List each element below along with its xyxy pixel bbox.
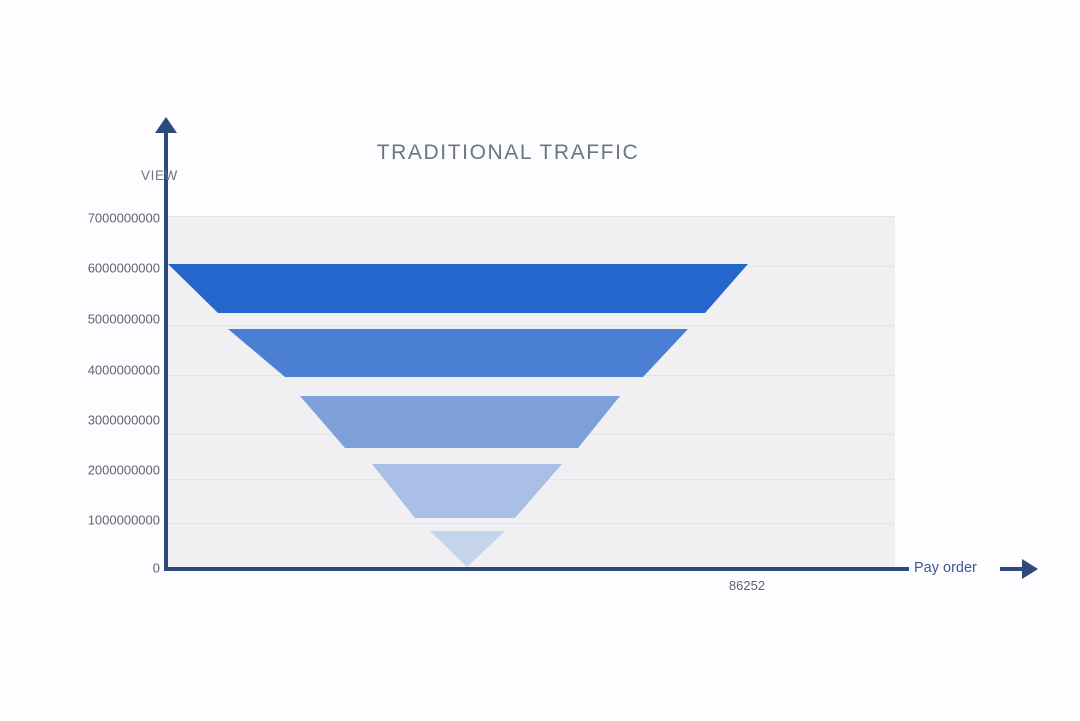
y-axis-tick-label: 2000000000 <box>40 463 160 478</box>
gridline <box>168 266 895 267</box>
y-axis-tick-label: 7000000000 <box>40 211 160 226</box>
gridline <box>168 325 895 326</box>
chart-title: TRADITIONAL TRAFFIC <box>0 141 1080 165</box>
x-axis-title: Pay order <box>914 560 977 576</box>
plot-area <box>168 216 895 568</box>
y-axis-tick-label: 3000000000 <box>40 413 160 428</box>
gridline <box>168 479 895 480</box>
x-axis-line <box>164 567 909 571</box>
y-axis-tick-label: 0 <box>40 561 160 576</box>
y-axis-tick-label: 1000000000 <box>40 513 160 528</box>
y-axis-tick-label: 6000000000 <box>40 261 160 276</box>
x-axis-line-right <box>1000 567 1024 571</box>
y-axis-tick-labels: 7000000000 6000000000 5000000000 4000000… <box>36 0 160 721</box>
y-axis-tick-label: 5000000000 <box>40 312 160 327</box>
arrow-right-icon <box>1022 559 1038 579</box>
x-axis-tick-label: 86252 <box>692 578 802 593</box>
funnel-chart: TRADITIONAL TRAFFIC VIEW Pay order 70000… <box>0 0 1080 721</box>
y-axis-tick-label: 4000000000 <box>40 363 160 378</box>
gridline <box>168 523 895 524</box>
y-axis-line <box>164 128 168 571</box>
gridline <box>168 216 895 217</box>
gridline <box>168 434 895 435</box>
gridline <box>168 375 895 376</box>
